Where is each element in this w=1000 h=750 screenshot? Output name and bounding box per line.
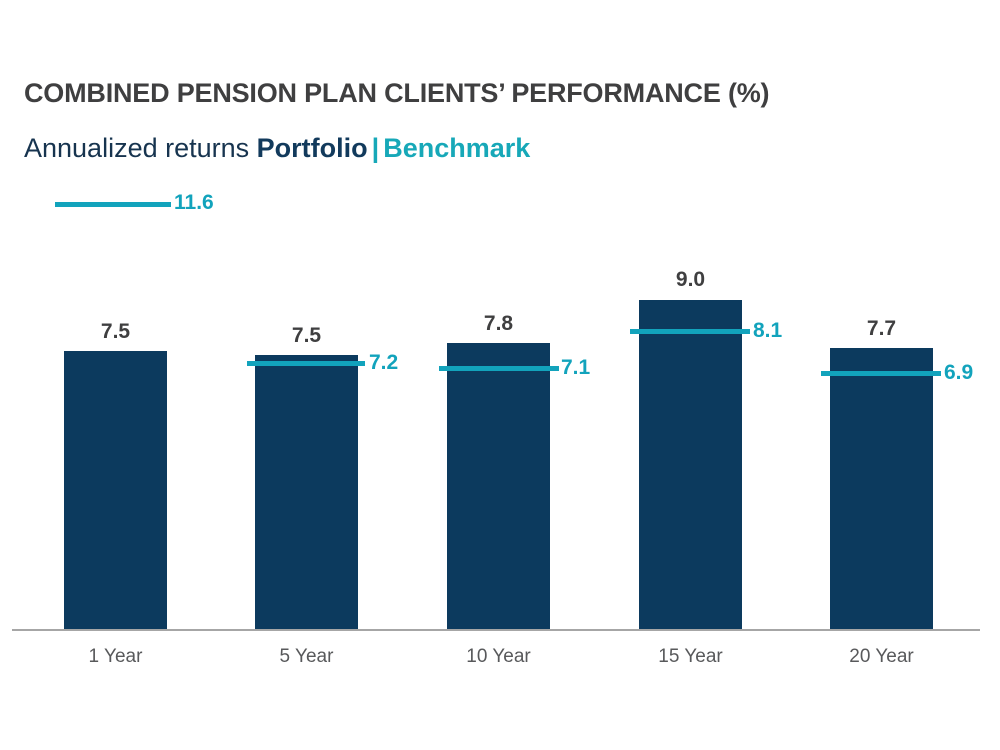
bar-value-label-1-year: 7.5 xyxy=(64,320,167,344)
benchmark-value-label-1-year: 11.6 xyxy=(174,191,214,215)
x-axis-line xyxy=(12,629,980,631)
bar-portfolio-5-year xyxy=(255,355,358,629)
benchmark-line-1-year xyxy=(55,202,171,207)
x-tick-label-15-year: 15 Year xyxy=(639,646,742,668)
bar-portfolio-10-year xyxy=(447,343,550,629)
benchmark-value-label-10-year: 7.1 xyxy=(561,356,590,380)
slide-canvas: COMBINED PENSION PLAN CLIENTS’ PERFORMAN… xyxy=(0,0,1000,750)
benchmark-line-15-year xyxy=(630,329,750,334)
bar-portfolio-15-year xyxy=(639,300,742,629)
bar-value-label-10-year: 7.8 xyxy=(447,312,550,336)
benchmark-value-label-20-year: 6.9 xyxy=(944,361,973,385)
x-tick-label-10-year: 10 Year xyxy=(447,646,550,668)
benchmark-line-20-year xyxy=(821,371,941,376)
bar-value-label-15-year: 9.0 xyxy=(639,268,742,292)
benchmark-value-label-15-year: 8.1 xyxy=(753,319,782,343)
bar-portfolio-20-year xyxy=(830,348,933,629)
benchmark-line-5-year xyxy=(247,361,365,366)
x-tick-label-20-year: 20 Year xyxy=(830,646,933,668)
bar-value-label-20-year: 7.7 xyxy=(830,317,933,341)
chart-plot-area: 7.5 7.5 7.8 9.0 7.7 11.6 7.2 7.1 8.1 6.9… xyxy=(0,0,1000,750)
x-tick-label-1-year: 1 Year xyxy=(64,646,167,668)
bar-portfolio-1-year xyxy=(64,351,167,629)
benchmark-line-10-year xyxy=(439,366,559,371)
bar-value-label-5-year: 7.5 xyxy=(255,324,358,348)
x-tick-label-5-year: 5 Year xyxy=(255,646,358,668)
benchmark-value-label-5-year: 7.2 xyxy=(369,351,398,375)
